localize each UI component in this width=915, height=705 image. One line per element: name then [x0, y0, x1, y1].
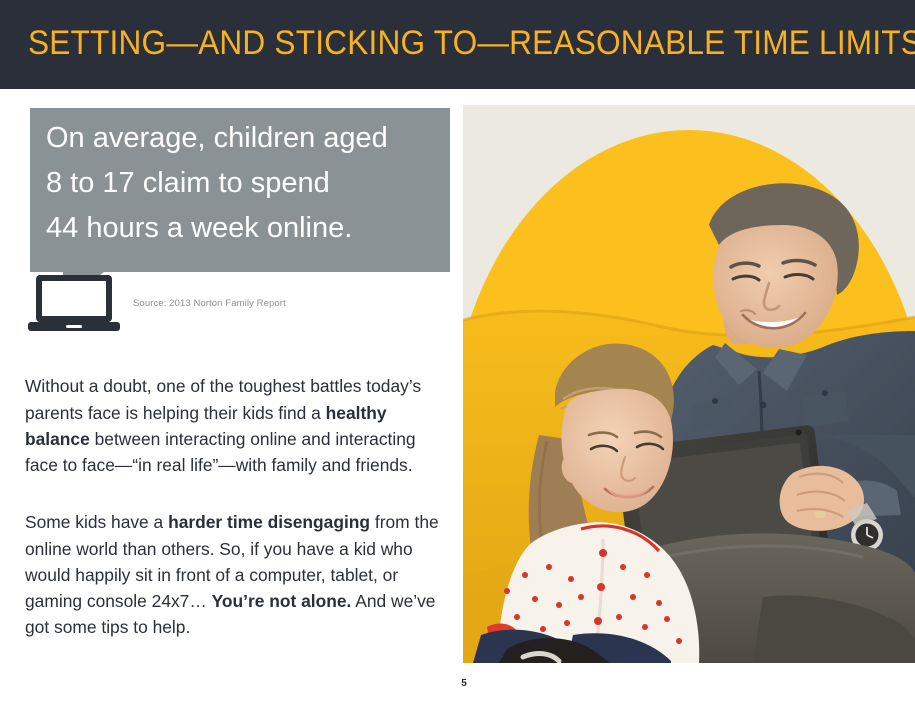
- header-band: SETTING—AND STICKING TO—REASONABLE TIME …: [0, 0, 915, 89]
- quote-text: On average, children aged 8 to 17 claim …: [46, 116, 444, 251]
- page-title: SETTING—AND STICKING TO—REASONABLE TIME …: [28, 24, 915, 63]
- source-note: Source: 2013 Norton Family Report: [133, 298, 286, 309]
- body-paragraph-1: Without a doubt, one of the toughest bat…: [25, 373, 445, 478]
- page-number: 5: [452, 678, 476, 689]
- quote-speech-bubble: On average, children aged 8 to 17 claim …: [30, 108, 450, 272]
- photo-illustration: [463, 105, 915, 663]
- left-content-column: On average, children aged 8 to 17 claim …: [0, 89, 463, 705]
- family-photo: [463, 105, 915, 663]
- body-paragraph-2: Some kids have a harder time disengaging…: [25, 509, 445, 640]
- laptop-icon: [28, 275, 120, 333]
